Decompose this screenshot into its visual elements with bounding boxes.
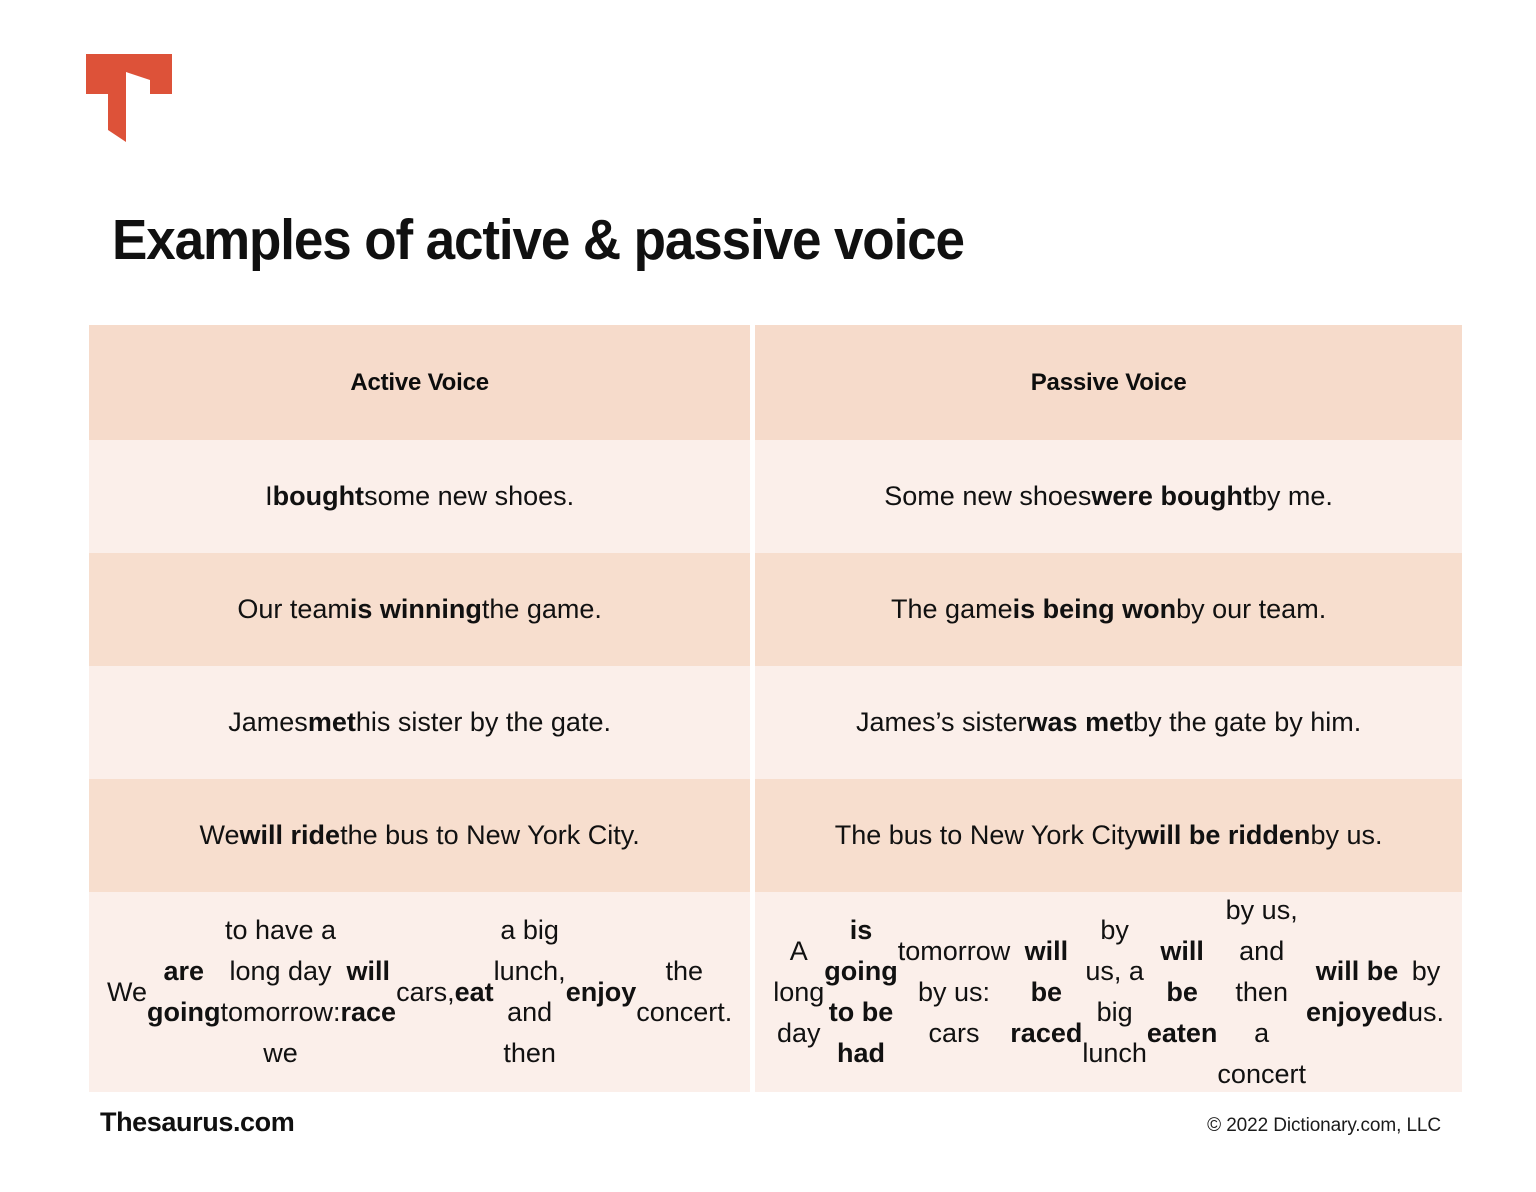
table-cell-passive-3: James’s sister was met by the gate by hi… <box>755 666 1462 779</box>
column-active-voice: Active Voice I bought some new shoes. Ou… <box>89 325 750 1092</box>
table-cell-active-3: James met his sister by the gate. <box>89 666 750 779</box>
table-cell-passive-5: A long day is going to be had tomorrowby… <box>755 892 1462 1092</box>
table-cell-passive-1: Some new shoes were bought by me. <box>755 440 1462 553</box>
table-cell-active-5: We are going to have a long daytomorrow:… <box>89 892 750 1092</box>
table-cell-active-2: Our team is winning the game. <box>89 553 750 666</box>
thesaurus-t-logo-icon <box>86 54 172 142</box>
column-passive-voice: Passive Voice Some new shoes were bought… <box>755 325 1462 1092</box>
column-header-passive: Passive Voice <box>755 325 1462 440</box>
active-passive-voice-table: Active Voice I bought some new shoes. Ou… <box>89 325 1461 1092</box>
table-cell-active-4: We will ride the bus to New York City. <box>89 779 750 892</box>
footer-brand-name: Thesaurus.com <box>100 1107 294 1138</box>
page-title: Examples of active & passive voice <box>112 207 964 273</box>
column-header-active: Active Voice <box>89 325 750 440</box>
table-cell-active-1: I bought some new shoes. <box>89 440 750 553</box>
footer-copyright: © 2022 Dictionary.com, LLC <box>1207 1115 1441 1137</box>
table-cell-passive-2: The game is being won by our team. <box>755 553 1462 666</box>
table-cell-passive-4: The bus to New York Citywill be ridden b… <box>755 779 1462 892</box>
